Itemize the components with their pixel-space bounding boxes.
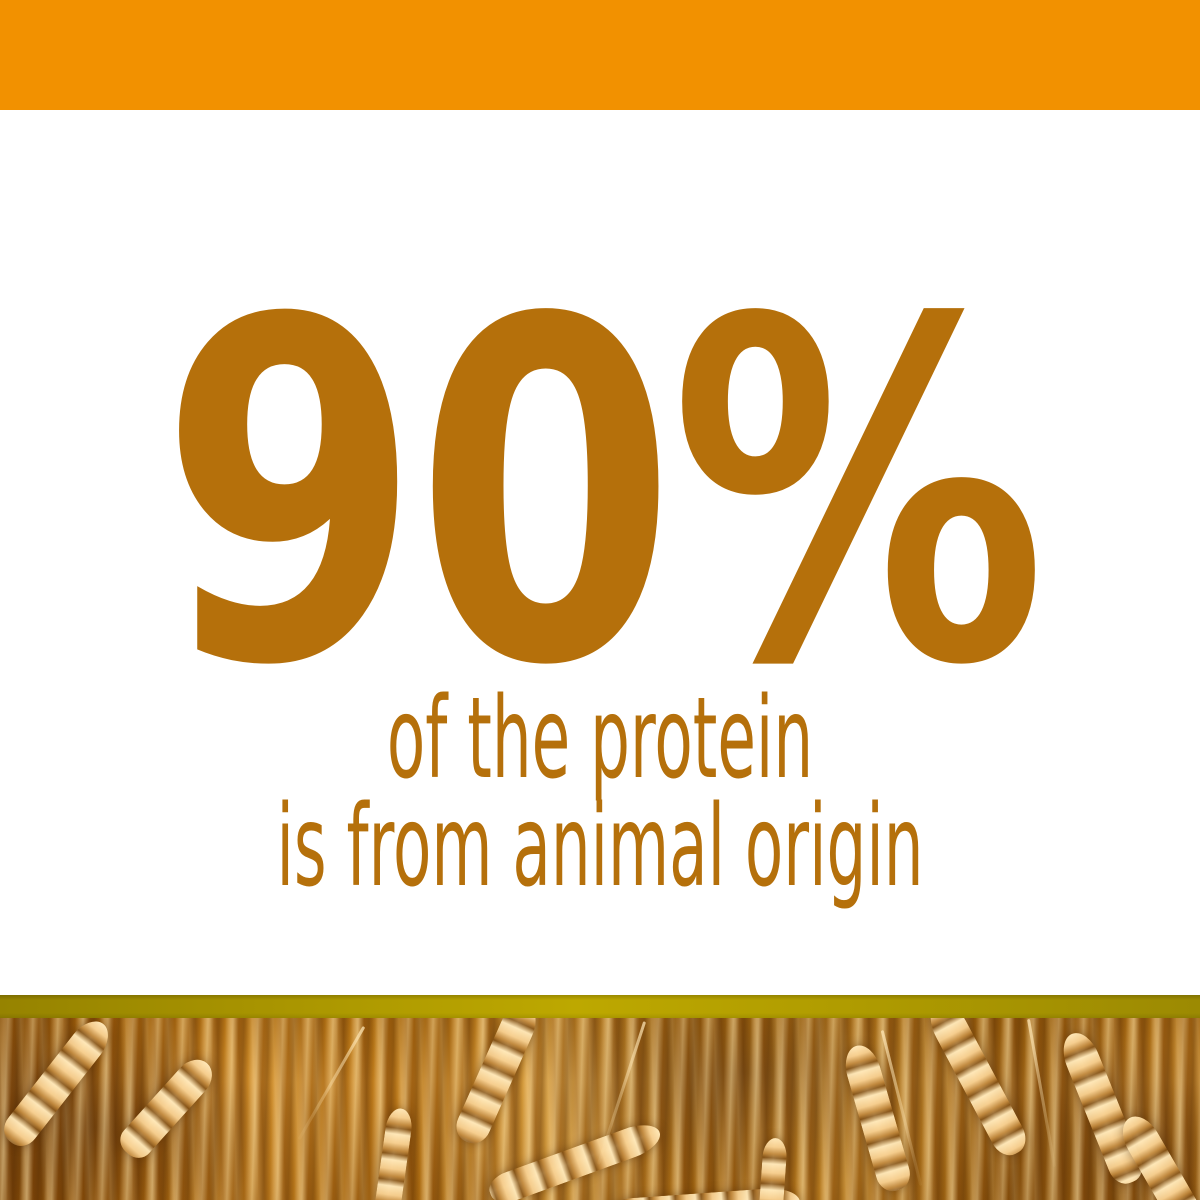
- wheat-field-photo: [0, 1018, 1200, 1200]
- subtitle-line-1: of the protein: [264, 685, 936, 793]
- content-area: 90% of the protein is from animal origin: [0, 110, 1200, 995]
- infographic-card: 90% of the protein is from animal origin: [0, 0, 1200, 1200]
- header-orange-band: [0, 0, 1200, 110]
- stat-value: 90%: [120, 260, 1080, 730]
- olive-divider-band: [0, 995, 1200, 1018]
- subtitle-block: of the protein is from animal origin: [0, 685, 1200, 901]
- subtitle-line-2: is from animal origin: [264, 793, 936, 901]
